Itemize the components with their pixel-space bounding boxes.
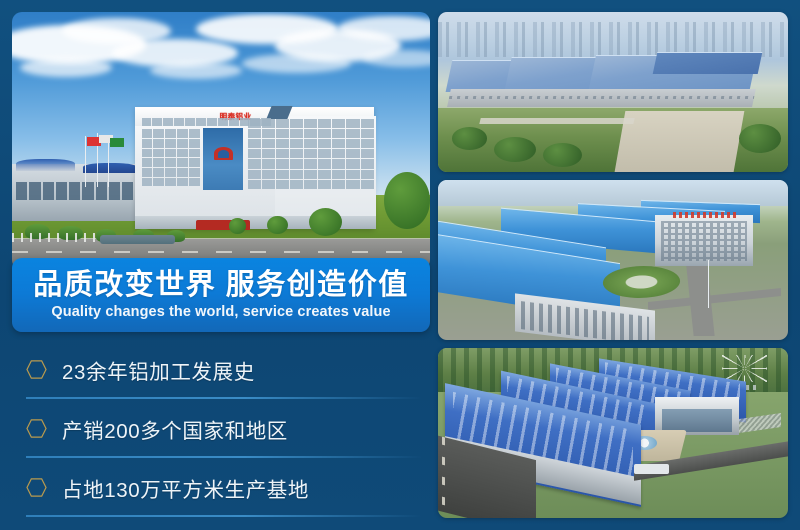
aerial-workshops-photo[interactable]	[438, 180, 788, 340]
factory-facade	[447, 89, 755, 107]
feature-divider	[26, 515, 422, 517]
gatehouse	[634, 464, 669, 474]
water-feature	[100, 235, 175, 244]
feature-item-2[interactable]: 产销200多个国家和地区	[12, 399, 430, 458]
flagpole	[85, 136, 86, 188]
building-window-grid-right	[248, 119, 373, 189]
feature-list: 23余年铝加工发展史 产销200多个国家和地区 占地130万平方米生产基地	[12, 340, 430, 518]
industrial-park-rendering[interactable]	[438, 348, 788, 518]
tree	[267, 216, 288, 234]
feature-label: 占地130万平方米生产基地	[62, 473, 309, 503]
slogan-banner: 品质改变世界 服务创造价值 Quality changes the world,…	[12, 258, 430, 332]
promo-page: 明泰铝业	[0, 0, 800, 530]
shrub	[543, 143, 582, 167]
blue-roof-hall	[653, 52, 763, 74]
horizon-sky	[438, 180, 788, 206]
feature-label: 产销200多个国家和地区	[62, 414, 288, 444]
slogan-chinese: 品质改变世界 服务创造价值	[33, 270, 409, 300]
fence	[12, 233, 96, 242]
cloud-icon	[338, 16, 430, 41]
flag-icon	[110, 138, 124, 147]
hexagon-bullet-icon	[26, 419, 47, 438]
shrub	[739, 124, 781, 153]
rooftop-sign	[673, 212, 736, 218]
tree	[384, 172, 430, 229]
cloud-icon	[242, 54, 351, 73]
cloud-icon	[20, 58, 112, 77]
left-column: 明泰铝业	[12, 12, 430, 518]
aerial-factory-photo[interactable]	[438, 12, 788, 172]
hexagon-bullet-icon	[26, 360, 47, 379]
shrub	[452, 127, 487, 149]
slogan-english: Quality changes the world, service creat…	[51, 304, 390, 320]
cloud-icon	[150, 62, 242, 79]
company-emblem-icon	[214, 147, 233, 160]
feature-item-1[interactable]: 23余年铝加工发展史	[12, 340, 430, 399]
company-headquarters-photo: 明泰铝业	[12, 12, 430, 270]
light-mast	[708, 260, 710, 308]
workshop-blue-roof	[16, 159, 75, 171]
access-road	[479, 118, 635, 124]
hexagon-bullet-icon	[26, 478, 47, 497]
building-window-grid-left	[142, 129, 201, 186]
hero-photo-frame[interactable]: 明泰铝业	[12, 12, 430, 270]
gallery-column	[438, 12, 788, 518]
flagpole	[108, 137, 109, 187]
workshop-blue-roof	[83, 163, 137, 173]
cloud-icon	[363, 50, 430, 67]
feature-item-3[interactable]: 占地130万平方米生产基地	[12, 458, 430, 517]
office-tower	[655, 215, 753, 266]
tree	[229, 218, 246, 233]
feature-label: 23余年铝加工发展史	[62, 355, 255, 385]
workshop-windows	[16, 182, 133, 200]
